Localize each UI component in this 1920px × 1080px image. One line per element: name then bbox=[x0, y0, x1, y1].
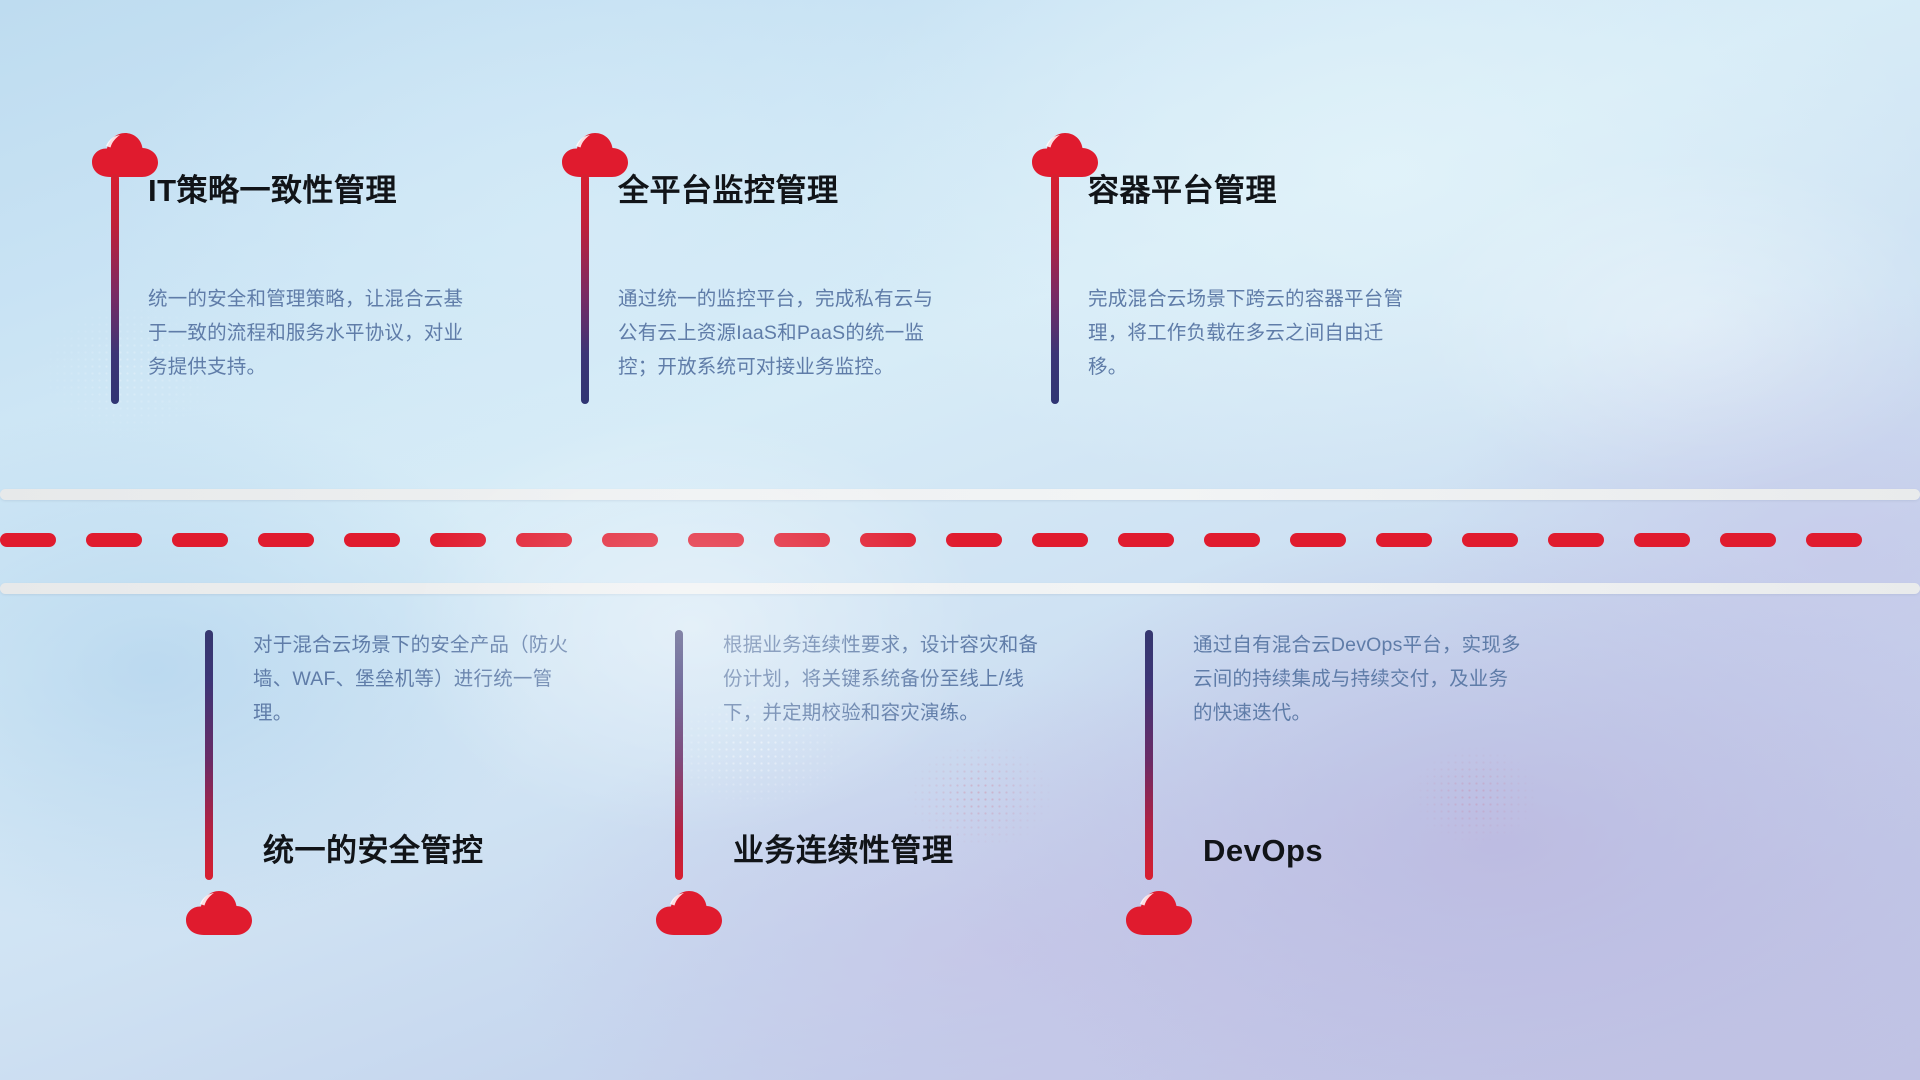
divider-dash bbox=[0, 533, 56, 547]
divider-dash bbox=[1548, 533, 1604, 547]
divider-rail-top bbox=[0, 489, 1920, 500]
bottom-body-3: 通过自有混合云DevOps平台，实现多云间的持续集成与持续交付，及业务的快速迭代… bbox=[1193, 628, 1523, 730]
divider-dash bbox=[516, 533, 572, 547]
cloud-icon bbox=[184, 888, 254, 938]
cloud-icon bbox=[654, 888, 724, 938]
top-body-3: 完成混合云场景下跨云的容器平台管理，将工作负载在多云之间自由迁移。 bbox=[1088, 282, 1418, 384]
cloud-icon bbox=[1124, 888, 1194, 938]
connector-line bbox=[581, 174, 589, 404]
bottom-heading-1: 统一的安全管控 bbox=[263, 832, 484, 869]
top-heading-3: 容器平台管理 bbox=[1088, 172, 1277, 209]
connector-line bbox=[1051, 174, 1059, 404]
divider-dash bbox=[1634, 533, 1690, 547]
divider-dash bbox=[172, 533, 228, 547]
divider-dash bbox=[860, 533, 916, 547]
divider-dash bbox=[1032, 533, 1088, 547]
top-heading-2: 全平台监控管理 bbox=[618, 172, 839, 209]
divider-dash bbox=[86, 533, 142, 547]
divider-dash bbox=[1806, 533, 1862, 547]
divider-rail-bottom bbox=[0, 583, 1920, 594]
bottom-heading-2: 业务连续性管理 bbox=[733, 832, 954, 869]
divider-dash bbox=[1290, 533, 1346, 547]
connector-line bbox=[1145, 630, 1153, 880]
divider-dash bbox=[774, 533, 830, 547]
top-heading-1: IT策略一致性管理 bbox=[148, 172, 397, 209]
divider-dashed-line bbox=[0, 533, 1920, 547]
divider-dash bbox=[1462, 533, 1518, 547]
divider-dash bbox=[688, 533, 744, 547]
divider-dash bbox=[258, 533, 314, 547]
bottom-heading-3: DevOps bbox=[1203, 832, 1323, 869]
divider-dash bbox=[1204, 533, 1260, 547]
section-divider bbox=[0, 489, 1920, 594]
texture-speckle bbox=[1410, 745, 1540, 845]
infographic-canvas: IT策略一致性管理 统一的安全和管理策略，让混合云基于一致的流程和服务水平协议，… bbox=[0, 0, 1920, 1080]
top-body-1: 统一的安全和管理策略，让混合云基于一致的流程和服务水平协议，对业务提供支持。 bbox=[148, 282, 478, 384]
top-body-2: 通过统一的监控平台，完成私有云与公有云上资源IaaS和PaaS的统一监控；开放系… bbox=[618, 282, 948, 384]
connector-line bbox=[675, 630, 683, 880]
divider-dash bbox=[602, 533, 658, 547]
divider-dash bbox=[430, 533, 486, 547]
connector-line bbox=[111, 174, 119, 404]
divider-dash bbox=[344, 533, 400, 547]
divider-dash bbox=[1118, 533, 1174, 547]
connector-line bbox=[205, 630, 213, 880]
divider-dash bbox=[1376, 533, 1432, 547]
divider-dash bbox=[1720, 533, 1776, 547]
divider-dash bbox=[946, 533, 1002, 547]
bottom-body-2: 根据业务连续性要求，设计容灾和备份计划，将关键系统备份至线上/线下，并定期校验和… bbox=[723, 628, 1053, 730]
bottom-body-1: 对于混合云场景下的安全产品（防火墙、WAF、堡垒机等）进行统一管理。 bbox=[253, 628, 583, 730]
